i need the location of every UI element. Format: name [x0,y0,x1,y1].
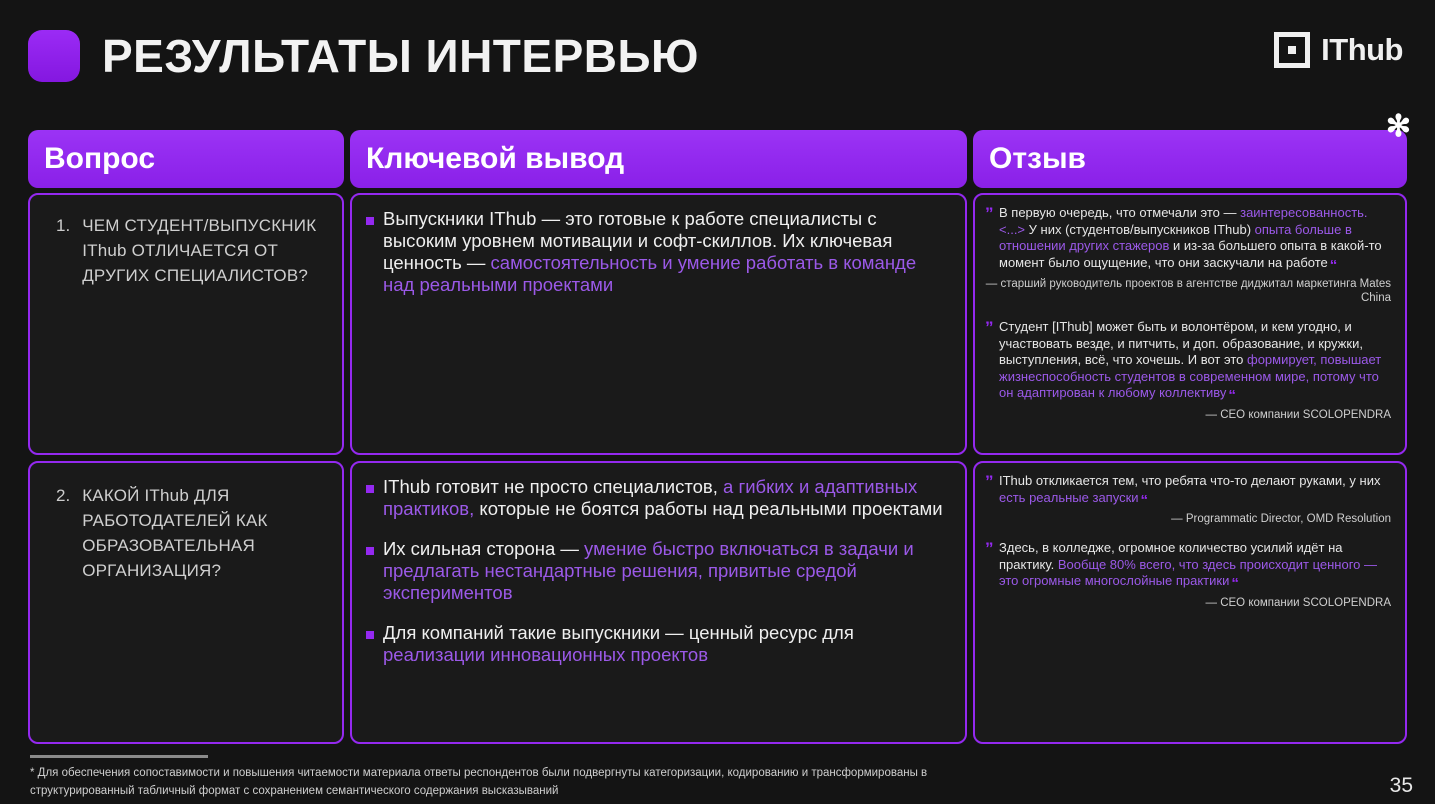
key-conclusion-text: Выпускники IThub — это готовые к работе … [383,208,947,296]
key-conclusion-cell: IThub готовит не просто специалистов, а … [350,461,967,744]
review-quote: ”IThub откликается тем, что ребята что-т… [985,473,1393,526]
bullet-icon [366,547,374,555]
highlighted-text: есть реальные запуски [999,490,1139,505]
bullet-icon [366,217,374,225]
table-row: 2. КАКОЙ IThub ДЛЯ РАБОТОДАТЕЛЕЙ КАК ОБР… [28,461,1407,744]
quote-close-icon: “ [1141,492,1149,509]
key-conclusion-text: Для компаний такие выпускники — ценный р… [383,622,947,666]
review-quote-text: ”Студент [IThub] может быть и волонтёром… [985,319,1393,405]
review-cell: ”В первую очередь, что отмечали это — за… [973,193,1407,455]
body-text: У них (студентов/выпускников IThub) [1029,222,1255,237]
brand-name: IThub [1321,32,1403,68]
key-conclusion-item: Выпускники IThub — это готовые к работе … [366,208,947,296]
column-header-key-conclusion: Ключевой вывод [350,130,967,188]
quote-close-icon: “ [1228,387,1236,404]
review-author: — CEO компании SCOLOPENDRA [985,408,1393,422]
review-list: ”В первую очередь, что отмечали это — за… [975,195,1405,422]
bullet-icon [366,631,374,639]
column-header-question: Вопрос [28,130,344,188]
review-quote-text: ”IThub откликается тем, что ребята что-т… [985,473,1393,509]
review-author: — старший руководитель проектов в агентс… [985,277,1393,305]
review-quote: ”Студент [IThub] может быть и волонтёром… [985,319,1393,422]
square-in-square-icon [1274,32,1310,68]
review-cell: ”IThub откликается тем, что ребята что-т… [973,461,1407,744]
body-text: которые не боятся работы над реальными п… [474,498,942,519]
column-header-question-label: Вопрос [44,142,155,176]
footnote-divider [30,755,208,758]
key-conclusion-text: IThub готовит не просто специалистов, а … [383,476,947,520]
quote-close-icon: “ [1231,575,1239,592]
body-text: IThub готовит не просто специалистов, [383,476,723,497]
body-text: Их сильная сторона — [383,538,584,559]
key-conclusion-item: IThub готовит не просто специалистов, а … [366,476,947,520]
title-accent-chip [28,30,80,82]
table-body: 1. ЧЕМ СТУДЕНТ/ВЫПУСКНИК IThub ОТЛИЧАЕТС… [28,193,1407,744]
review-list: ”IThub откликается тем, что ребята что-т… [975,463,1405,610]
page-title: РЕЗУЛЬТАТЫ ИНТЕРВЬЮ [102,26,699,86]
question-text: ЧЕМ СТУДЕНТ/ВЫПУСКНИК IThub ОТЛИЧАЕТСЯ О… [82,213,328,288]
review-quote: ”В первую очередь, что отмечали это — за… [985,205,1393,305]
question-number: 1. [56,213,70,288]
table-row: 1. ЧЕМ СТУДЕНТ/ВЫПУСКНИК IThub ОТЛИЧАЕТС… [28,193,1407,455]
key-conclusion-cell: Выпускники IThub — это готовые к работе … [350,193,967,455]
review-quote-text: ”Здесь, в колледже, огромное количество … [985,540,1393,593]
question-number: 2. [56,483,70,583]
body-text: IThub откликается тем, что ребята что-то… [999,473,1380,488]
key-conclusion-text: Их сильная сторона — умение быстро включ… [383,538,947,604]
footnote-text: * Для обеспечения сопоставимости и повыш… [30,764,960,800]
column-header-review-label: Отзыв [989,142,1086,176]
key-conclusion-list: Выпускники IThub — это готовые к работе … [352,195,965,296]
key-conclusion-item: Их сильная сторона — умение быстро включ… [366,538,947,604]
column-header-key-conclusion-label: Ключевой вывод [366,142,624,176]
quote-close-icon: “ [1330,257,1338,274]
table-header-row: Вопрос Ключевой вывод Отзыв ✻ [28,130,1407,188]
review-author: — Programmatic Director, OMD Resolution [985,512,1393,526]
review-quote-text: ”В первую очередь, что отмечали это — за… [985,205,1393,274]
question-text: КАКОЙ IThub ДЛЯ РАБОТОДАТЕЛЕЙ КАК ОБРАЗО… [82,483,328,583]
question-cell: 2. КАКОЙ IThub ДЛЯ РАБОТОДАТЕЛЕЙ КАК ОБР… [28,461,344,744]
question-cell: 1. ЧЕМ СТУДЕНТ/ВЫПУСКНИК IThub ОТЛИЧАЕТС… [28,193,344,455]
key-conclusion-list: IThub готовит не просто специалистов, а … [352,463,965,666]
brand-logo: IThub [1274,32,1403,68]
review-author: — CEO компании SCOLOPENDRA [985,596,1393,610]
slide-header: РЕЗУЛЬТАТЫ ИНТЕРВЬЮ IThub [0,0,1435,108]
review-quote: ”Здесь, в колледже, огромное количество … [985,540,1393,610]
page-number: 35 [1390,774,1413,798]
highlighted-text: реализации инновационных проектов [383,644,708,665]
body-text: Для компаний такие выпускники — ценный р… [383,622,854,643]
footnote-asterisk-marker: ✻ [1386,112,1411,142]
key-conclusion-item: Для компаний такие выпускники — ценный р… [366,622,947,666]
body-text: В первую очередь, что отмечали это — [999,205,1240,220]
column-header-review: Отзыв [973,130,1407,188]
bullet-icon [366,485,374,493]
results-table: Вопрос Ключевой вывод Отзыв ✻ 1. ЧЕМ СТУ… [28,130,1407,750]
